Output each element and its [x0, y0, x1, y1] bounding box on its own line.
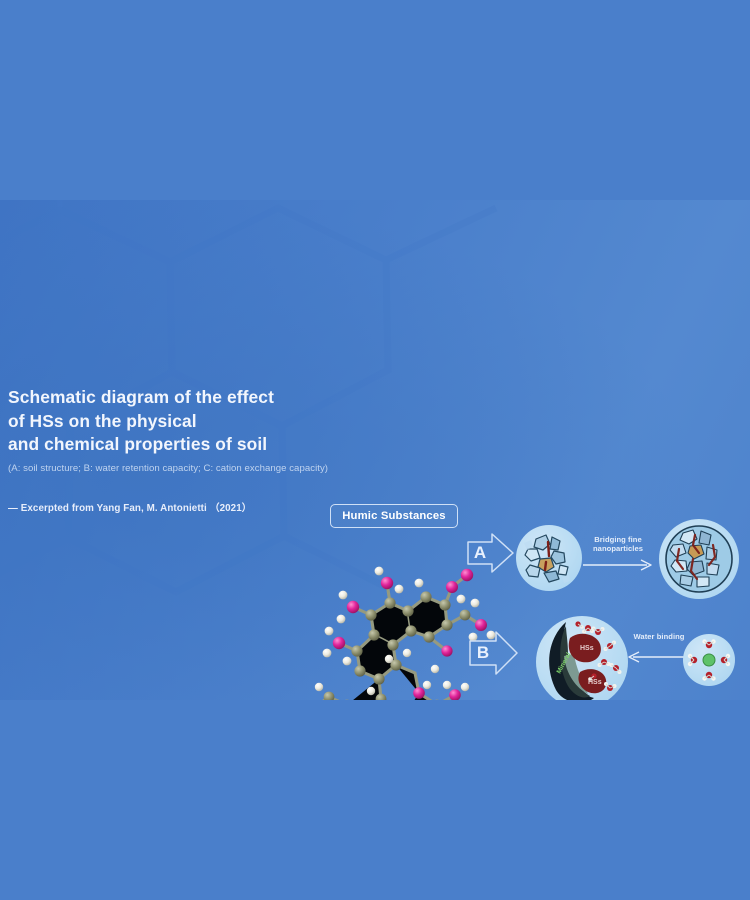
panel-a-after-illustration: [659, 519, 739, 599]
page-title-line-2: of HSs on the physical: [8, 410, 348, 434]
panel-b-arrow-icon: [627, 650, 689, 664]
figure-text-block: Schematic diagram of the effect of HSs o…: [8, 386, 348, 514]
panel-a-flow-label: Bridging fine nanoparticles: [578, 535, 658, 554]
page-title-line-1: Schematic diagram of the effect: [8, 386, 348, 410]
panel-a-arrow-icon: [583, 558, 655, 572]
panel-b-hydrated-cation-illustration: [683, 634, 735, 686]
letterbox-top: [0, 0, 750, 200]
panel-b-illustration: HSs HSs Mineral: [536, 616, 628, 700]
panel-b-marker-letter: B: [468, 644, 498, 661]
panel-a-marker: A: [466, 532, 516, 574]
schematic-figure: Schematic diagram of the effect of HSs o…: [0, 200, 750, 700]
letterbox-bottom: [0, 700, 750, 900]
page-title-line-3: and chemical properties of soil: [8, 433, 348, 457]
panel-b-flow-label: Water binding: [624, 632, 694, 641]
panel-a-marker-letter: A: [466, 544, 494, 561]
panel-b-marker: B: [468, 630, 520, 676]
figure-attribution: — Excerpted from Yang Fan, M. Antonietti…: [8, 500, 348, 514]
panel-a-before-illustration: [516, 525, 582, 591]
humic-substances-label-text: Humic Substances: [342, 510, 445, 522]
svg-text:HSs: HSs: [580, 645, 594, 652]
figure-subtitle: (A: soil structure; B: water retention c…: [8, 463, 348, 474]
figure-canvas: Schematic diagram of the effect of HSs o…: [0, 0, 750, 900]
